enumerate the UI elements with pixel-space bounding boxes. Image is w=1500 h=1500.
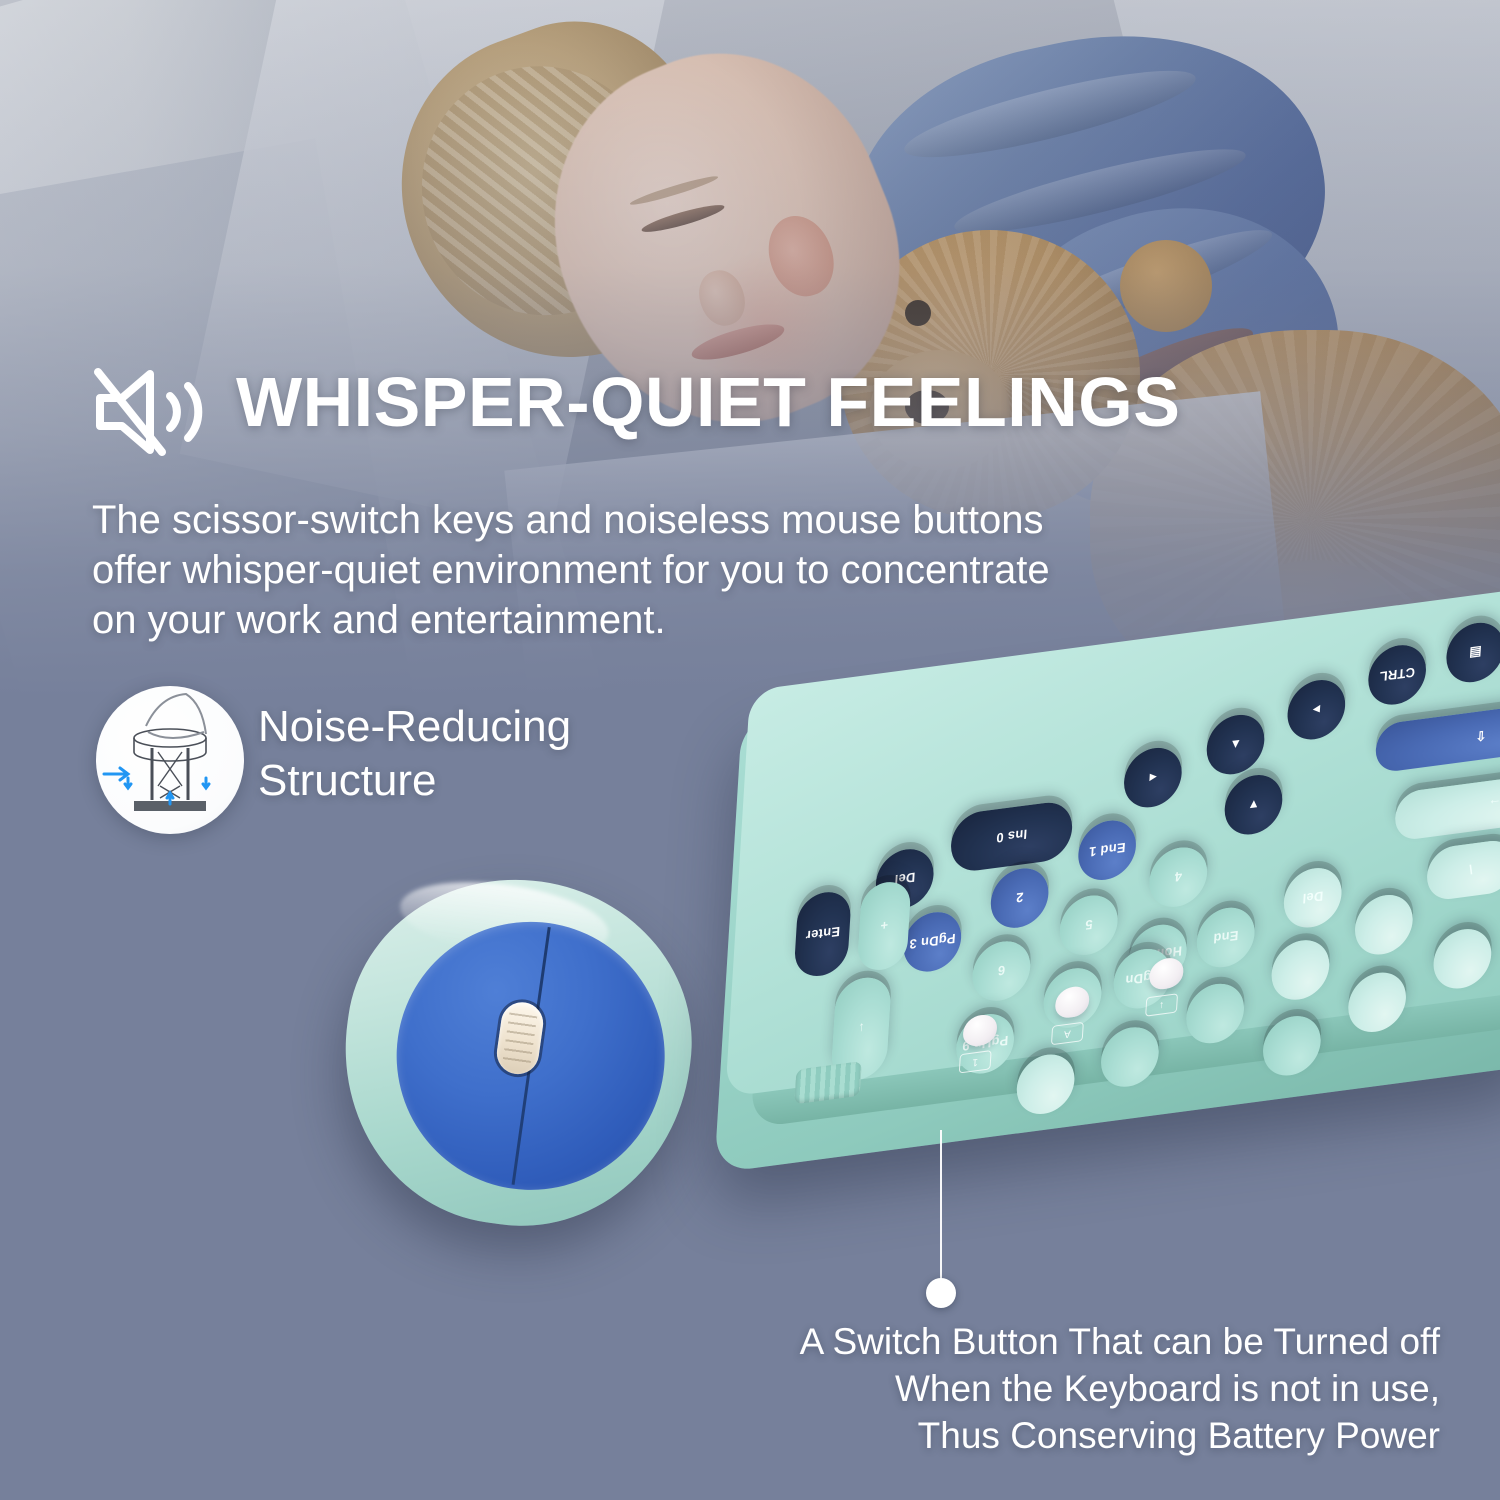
keycap-ctrl[interactable]: CTRL	[1367, 642, 1428, 709]
badge-label-line-2: Structure	[258, 754, 571, 808]
callout-leader-line	[940, 1130, 942, 1290]
callout-caption: A Switch Button That can be Turned off W…	[640, 1318, 1440, 1459]
wireless-keyboard: EnterDelIns 0End 12PgDn 3456Home 78PgUp …	[653, 489, 1500, 1221]
keycap-[interactable]: →	[1394, 767, 1500, 842]
keycap-[interactable]: ▴	[1205, 711, 1266, 778]
noise-reducing-badge	[96, 686, 244, 834]
page-title: WHISPER-QUIET FEELINGS	[236, 362, 1180, 442]
keycap-pgdn-3[interactable]: PgDn 3	[902, 909, 963, 976]
keycap-2[interactable]: 2	[989, 865, 1050, 932]
keycap-[interactable]: \	[1426, 838, 1500, 902]
caps-lock-icon: A	[1051, 1022, 1084, 1045]
product-marketing-image: WHISPER-QUIET FEELINGS The scissor-switc…	[0, 0, 1500, 1500]
keycap[interactable]	[1432, 926, 1493, 993]
keycap[interactable]	[1270, 937, 1331, 1004]
keyboard-deck: EnterDelIns 0End 12PgDn 3456Home 78PgUp …	[725, 583, 1500, 1097]
keycap-[interactable]: ▾	[1223, 771, 1284, 838]
scissor-switch-diagram-icon	[96, 686, 244, 834]
keycap-enter[interactable]: Enter	[793, 889, 852, 979]
keycap-4[interactable]: 4	[1148, 844, 1209, 911]
keycap-[interactable]: ▸	[1286, 676, 1347, 743]
keycap-ins-0[interactable]: Ins 0	[949, 799, 1074, 874]
mute-speaker-icon	[92, 366, 220, 458]
callout-line-1: A Switch Button That can be Turned off	[640, 1318, 1440, 1365]
keycap-[interactable]: ▤	[1445, 619, 1500, 686]
keycap-5[interactable]: 5	[1058, 892, 1119, 959]
callout-dot	[926, 1278, 956, 1308]
keycap-del[interactable]: Del	[1282, 865, 1343, 932]
callout-line-2: When the Keyboard is not in use,	[640, 1365, 1440, 1412]
wireless-mouse	[323, 858, 713, 1248]
keycap[interactable]	[1353, 891, 1414, 958]
keycap-end-1[interactable]: End 1	[1077, 817, 1138, 884]
keycap-[interactable]: ◂	[1122, 744, 1183, 811]
keycap-group: EnterDelIns 0End 12PgDn 3456Home 78PgUp …	[750, 583, 1500, 690]
keycap-[interactable]: +	[857, 879, 912, 973]
scroll-lock-icon: ↓	[1145, 993, 1178, 1016]
keycap-end[interactable]: End	[1195, 904, 1256, 971]
noise-reducing-badge-label: Noise-Reducing Structure	[258, 700, 571, 808]
badge-label-line-1: Noise-Reducing	[258, 700, 571, 754]
keycap-6[interactable]: 6	[971, 938, 1032, 1005]
callout-line-3: Thus Conserving Battery Power	[640, 1412, 1440, 1459]
keycap-[interactable]: ⇧	[1374, 697, 1500, 773]
subcopy-line-1: The scissor-switch keys and noiseless mo…	[92, 495, 1212, 545]
